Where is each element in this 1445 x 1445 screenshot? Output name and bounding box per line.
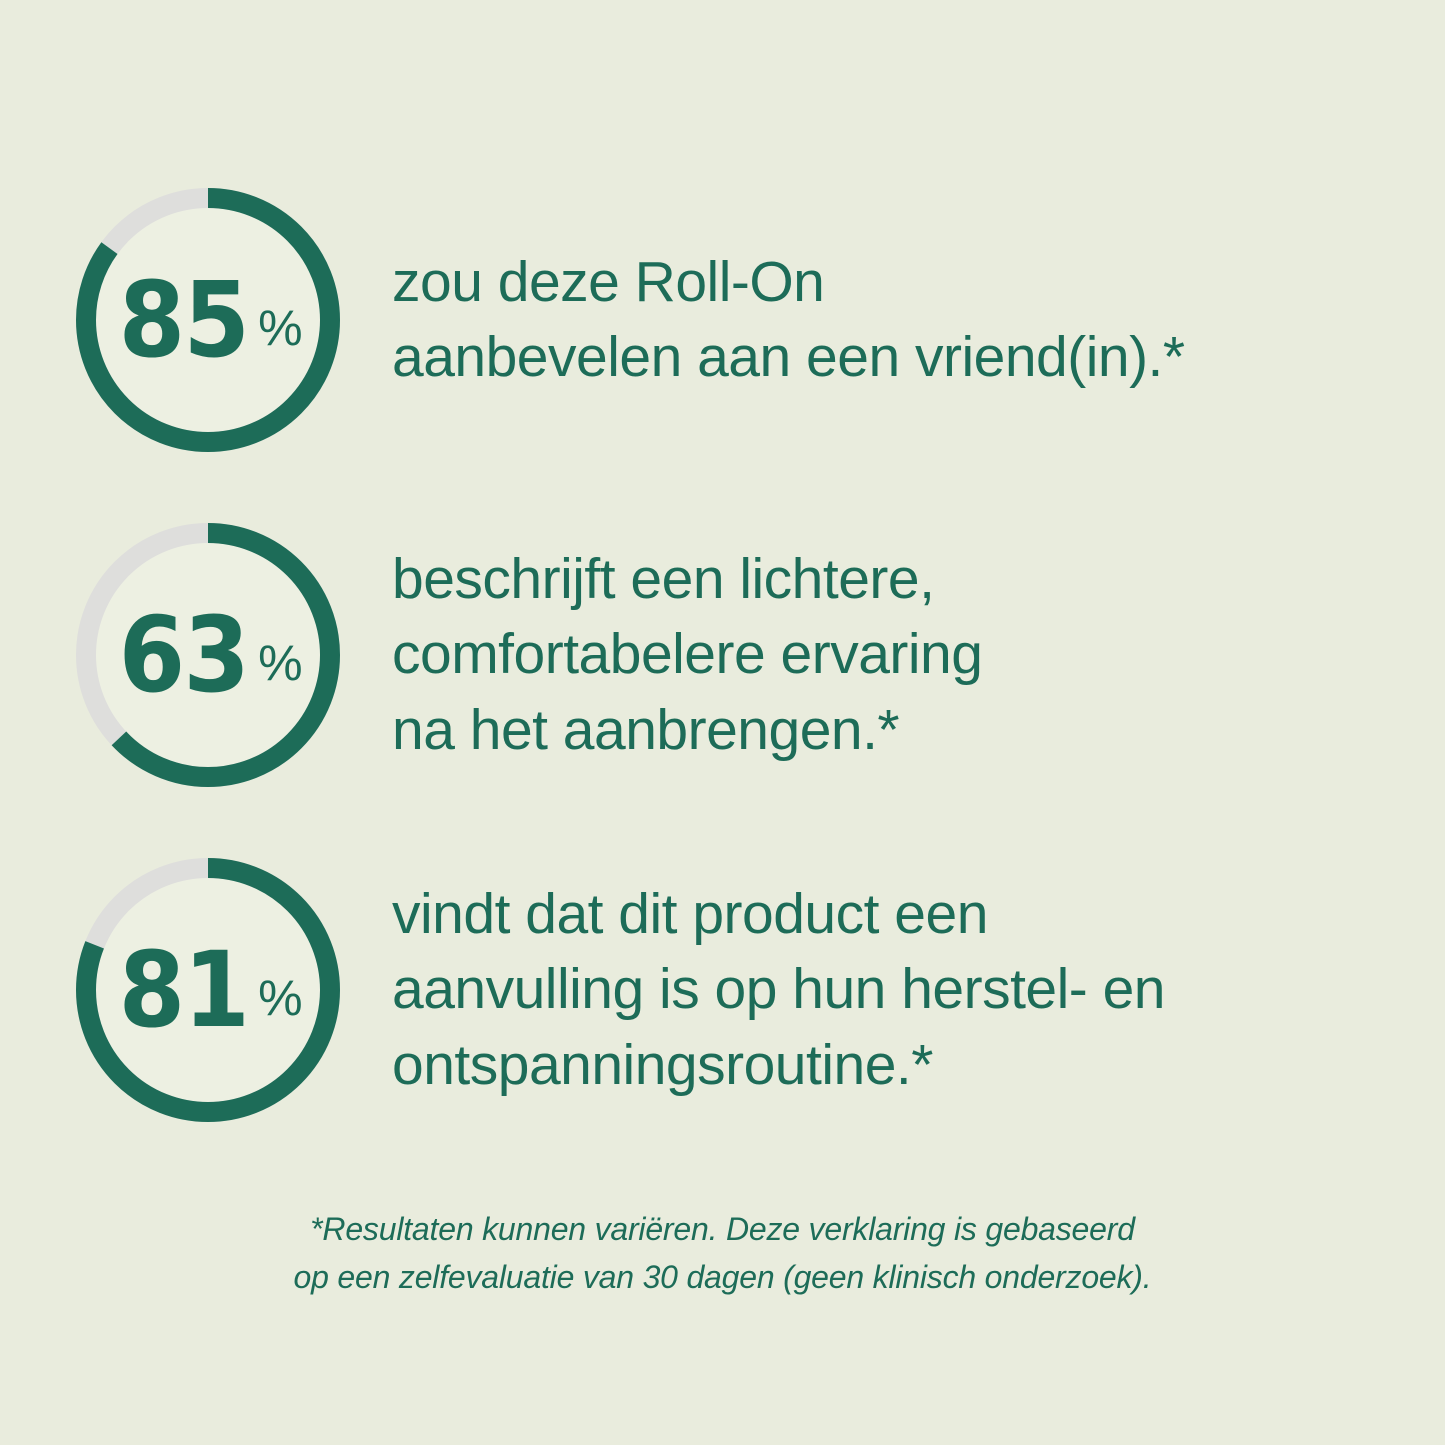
donut-label: 85% — [76, 188, 340, 452]
percent-value: 81 — [119, 938, 248, 1042]
footnote-line: op een zelfevaluatie van 30 dagen (geen … — [0, 1253, 1445, 1301]
percent-value: 63 — [119, 603, 248, 707]
stat-line: zou deze Roll-On — [392, 245, 1185, 320]
stat-line: aanvulling is op hun herstel- en — [392, 952, 1165, 1027]
stat-row: 81% vindt dat dit product een aanvulling… — [0, 858, 1445, 1122]
percent-value: 85 — [119, 268, 248, 372]
stat-line: comfortabelere ervaring — [392, 617, 982, 692]
footnote-line: *Resultaten kunnen variëren. Deze verkla… — [0, 1205, 1445, 1253]
stat-description: beschrijft een lichtere, comfortabelere … — [392, 542, 982, 768]
stat-line: vindt dat dit product een — [392, 877, 1165, 952]
stat-description: vindt dat dit product een aanvulling is … — [392, 877, 1165, 1103]
stat-row: 85% zou deze Roll-On aanbevelen aan een … — [0, 188, 1445, 452]
stat-line: na het aanbrengen.* — [392, 693, 982, 768]
stat-description: zou deze Roll-On aanbevelen aan een vrie… — [392, 245, 1185, 395]
stat-line: beschrijft een lichtere, — [392, 542, 982, 617]
stat-line: ontspanningsroutine.* — [392, 1028, 1165, 1103]
percent-sign: % — [258, 303, 302, 353]
donut-label: 81% — [76, 858, 340, 1122]
donut-chart-81: 81% — [76, 858, 340, 1122]
footnote-disclaimer: *Resultaten kunnen variëren. Deze verkla… — [0, 1205, 1445, 1301]
donut-label: 63% — [76, 523, 340, 787]
stat-line: aanbevelen aan een vriend(in).* — [392, 320, 1185, 395]
donut-chart-63: 63% — [76, 523, 340, 787]
donut-chart-85: 85% — [76, 188, 340, 452]
infographic-page: 85% zou deze Roll-On aanbevelen aan een … — [0, 0, 1445, 1445]
stat-row: 63% beschrijft een lichtere, comfortabel… — [0, 523, 1445, 787]
percent-sign: % — [258, 638, 302, 688]
percent-sign: % — [258, 973, 302, 1023]
